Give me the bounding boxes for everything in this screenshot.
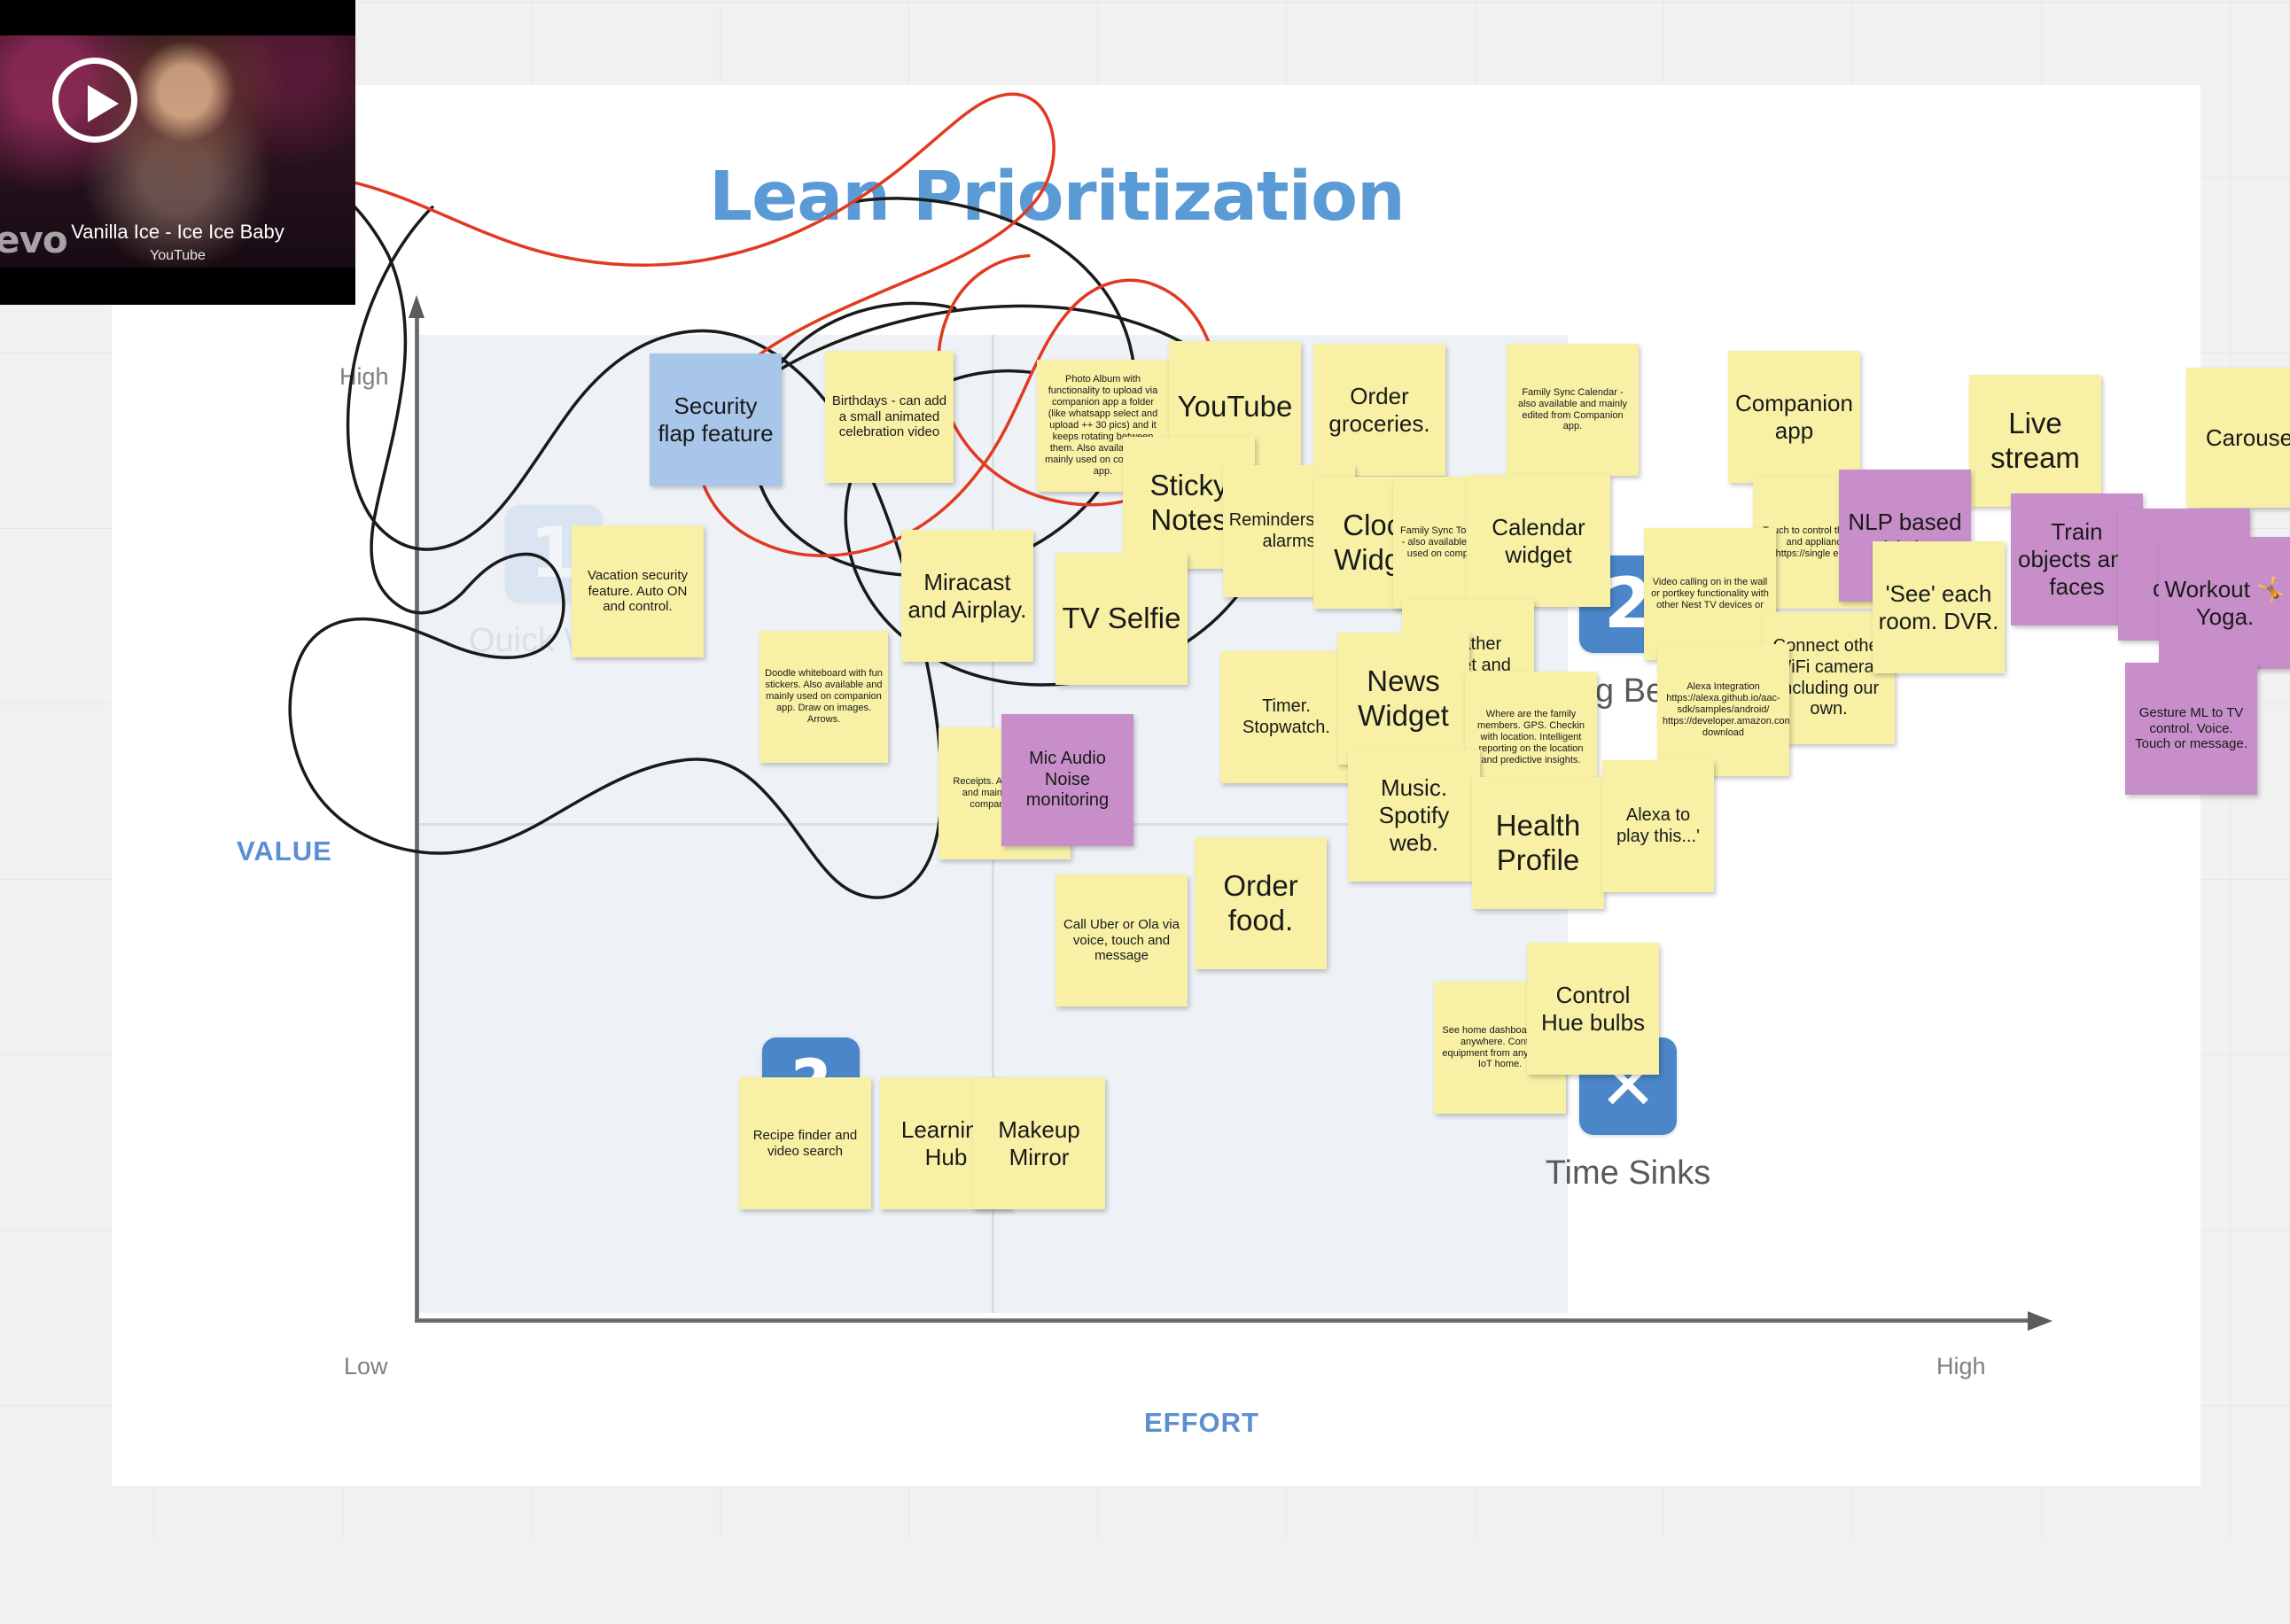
effort-axis-low-label: Low bbox=[344, 1353, 388, 1380]
sticky-note-text: Birthdays - can add a small animated cel… bbox=[830, 393, 948, 440]
sticky-note-order-groceries[interactable]: Order groceries. bbox=[1313, 344, 1445, 476]
sticky-note-call-uber-ola[interactable]: Call Uber or Ola via voice, touch and me… bbox=[1055, 874, 1188, 1006]
video-title: Vanilla Ice - Ice Ice Baby bbox=[0, 221, 355, 244]
sticky-note-tv-selfie[interactable]: TV Selfie bbox=[1055, 553, 1188, 685]
sticky-note-family-sync-cal[interactable]: Family Sync Calendar - also available an… bbox=[1507, 344, 1639, 476]
sticky-note-text: 'See' each room. DVR. bbox=[1878, 580, 1999, 634]
play-icon[interactable] bbox=[52, 58, 137, 143]
sticky-note-text: Order groceries. bbox=[1319, 383, 1440, 437]
sticky-note-text: Family Sync Calendar - also available an… bbox=[1512, 387, 1633, 433]
sticky-note-text: Alexa to play this...' bbox=[1608, 805, 1709, 847]
sticky-note-text: Music. Spotify web. bbox=[1353, 774, 1475, 856]
sticky-note-companion-app[interactable]: Companion app bbox=[1728, 351, 1860, 483]
sticky-note-news-widget[interactable]: News Widget bbox=[1337, 633, 1469, 765]
sticky-note-text: Alexa Integration https://alexa.github.i… bbox=[1663, 681, 1784, 739]
sticky-note-text: Video calling on in the wall or portkey … bbox=[1649, 577, 1771, 611]
sticky-note-video-calling[interactable]: Video calling on in the wall or portkey … bbox=[1644, 528, 1776, 660]
sticky-note-gesture-ml[interactable]: Gesture ML to TV control. Voice. Touch o… bbox=[2125, 663, 2257, 795]
sticky-note-alexa-play-this[interactable]: Alexa to play this...' bbox=[1602, 760, 1714, 892]
sticky-note-makeup-mirror[interactable]: Makeup Mirror bbox=[973, 1077, 1105, 1209]
sticky-note-live-stream[interactable]: Live stream bbox=[1969, 375, 2101, 507]
sticky-note-text: Live stream bbox=[1975, 407, 2096, 476]
video-source-label: YouTube bbox=[0, 248, 355, 264]
sticky-note-miracast-airplay[interactable]: Miracast and Airplay. bbox=[901, 530, 1033, 662]
sticky-note-calendar-widget[interactable]: Calendar widget bbox=[1467, 475, 1610, 607]
sticky-note-vacation-security[interactable]: Vacation security feature. Auto ON and c… bbox=[572, 525, 704, 657]
sticky-note-text: Workout 🤸 Yoga. bbox=[2164, 576, 2286, 630]
sticky-note-text: Gesture ML to TV control. Voice. Touch o… bbox=[2130, 705, 2252, 752]
sticky-note-text: Call Uber or Ola via voice, touch and me… bbox=[1061, 917, 1182, 964]
value-axis-line bbox=[415, 312, 419, 1322]
sticky-note-music-spotify[interactable]: Music. Spotify web. bbox=[1348, 750, 1480, 882]
video-overlay-card[interactable]: evo Vanilla Ice - Ice Ice Baby YouTube bbox=[0, 0, 355, 305]
sticky-note-workout-yoga[interactable]: Workout 🤸 Yoga. bbox=[2159, 537, 2290, 669]
sticky-note-text: Miracast and Airplay. bbox=[907, 569, 1028, 623]
sticky-note-text: Carousel UI bbox=[2192, 424, 2290, 452]
effort-axis-line bbox=[415, 1318, 2030, 1323]
sticky-note-birthdays[interactable]: Birthdays - can add a small animated cel… bbox=[825, 351, 954, 483]
video-letterbox-bottom bbox=[0, 268, 355, 305]
value-axis-high-label: High bbox=[339, 363, 389, 391]
sticky-note-alexa-integration[interactable]: Alexa Integration https://alexa.github.i… bbox=[1657, 644, 1789, 776]
effort-axis-arrow bbox=[2028, 1311, 2052, 1331]
sticky-note-text: Security flap feature bbox=[655, 392, 776, 447]
sticky-note-security-flap[interactable]: Security flap feature bbox=[650, 354, 782, 486]
sticky-note-text: Mic Audio Noise monitoring bbox=[1007, 749, 1128, 812]
sticky-note-text: News Widget bbox=[1343, 664, 1464, 734]
effort-axis-title: EFFORT bbox=[1144, 1407, 1259, 1439]
sticky-note-text: Recipe finder and video search bbox=[744, 1128, 866, 1159]
sticky-note-see-each-room[interactable]: 'See' each room. DVR. bbox=[1873, 541, 2005, 673]
sticky-note-text: Control Hue bulbs bbox=[1532, 982, 1654, 1036]
sticky-note-text: Companion app bbox=[1733, 390, 1855, 444]
sticky-note-text: TV Selfie bbox=[1061, 602, 1182, 636]
value-axis-arrow bbox=[409, 295, 425, 318]
video-letterbox-top bbox=[0, 0, 355, 35]
sticky-note-text: YouTube bbox=[1174, 390, 1296, 424]
quadrant-label-time-sinks: Time Sinks bbox=[1531, 1154, 1725, 1193]
sticky-note-text: Vacation security feature. Auto ON and c… bbox=[577, 568, 698, 615]
sticky-note-mic-audio-noise[interactable]: Mic Audio Noise monitoring bbox=[1001, 714, 1133, 846]
sticky-note-timer-stopwatch[interactable]: Timer. Stopwatch. bbox=[1220, 651, 1352, 783]
sticky-note-carousel-ui[interactable]: Carousel UI bbox=[2186, 368, 2290, 508]
value-axis-title: VALUE bbox=[237, 835, 332, 867]
sticky-note-text: Doodle whiteboard with fun stickers. Als… bbox=[765, 668, 883, 726]
sticky-note-recipe-finder[interactable]: Recipe finder and video search bbox=[739, 1077, 871, 1209]
sticky-note-control-hue-bulbs[interactable]: Control Hue bulbs bbox=[1527, 943, 1659, 1075]
slide-canvas: Lean Prioritization 1 Quick Wins 2 Big B… bbox=[112, 85, 2200, 1486]
sticky-note-doodle-whiteboard[interactable]: Doodle whiteboard with fun stickers. Als… bbox=[759, 631, 888, 763]
sticky-note-order-food[interactable]: Order food. bbox=[1195, 837, 1327, 969]
sticky-note-text: Calendar widget bbox=[1472, 514, 1605, 568]
sticky-note-text: Order food. bbox=[1200, 869, 1321, 938]
sticky-note-text: Where are the family members. GPS. Check… bbox=[1470, 709, 1592, 766]
sticky-note-text: Health Profile bbox=[1477, 809, 1599, 878]
effort-axis-high-label: High bbox=[1936, 1353, 1986, 1380]
sticky-note-health-profile[interactable]: Health Profile bbox=[1472, 777, 1604, 909]
page-title: Lean Prioritization bbox=[709, 158, 1405, 237]
sticky-note-text: Timer. Stopwatch. bbox=[1226, 696, 1347, 738]
play-triangle-glyph bbox=[88, 85, 119, 122]
sticky-note-text: Makeup Mirror bbox=[978, 1116, 1100, 1170]
